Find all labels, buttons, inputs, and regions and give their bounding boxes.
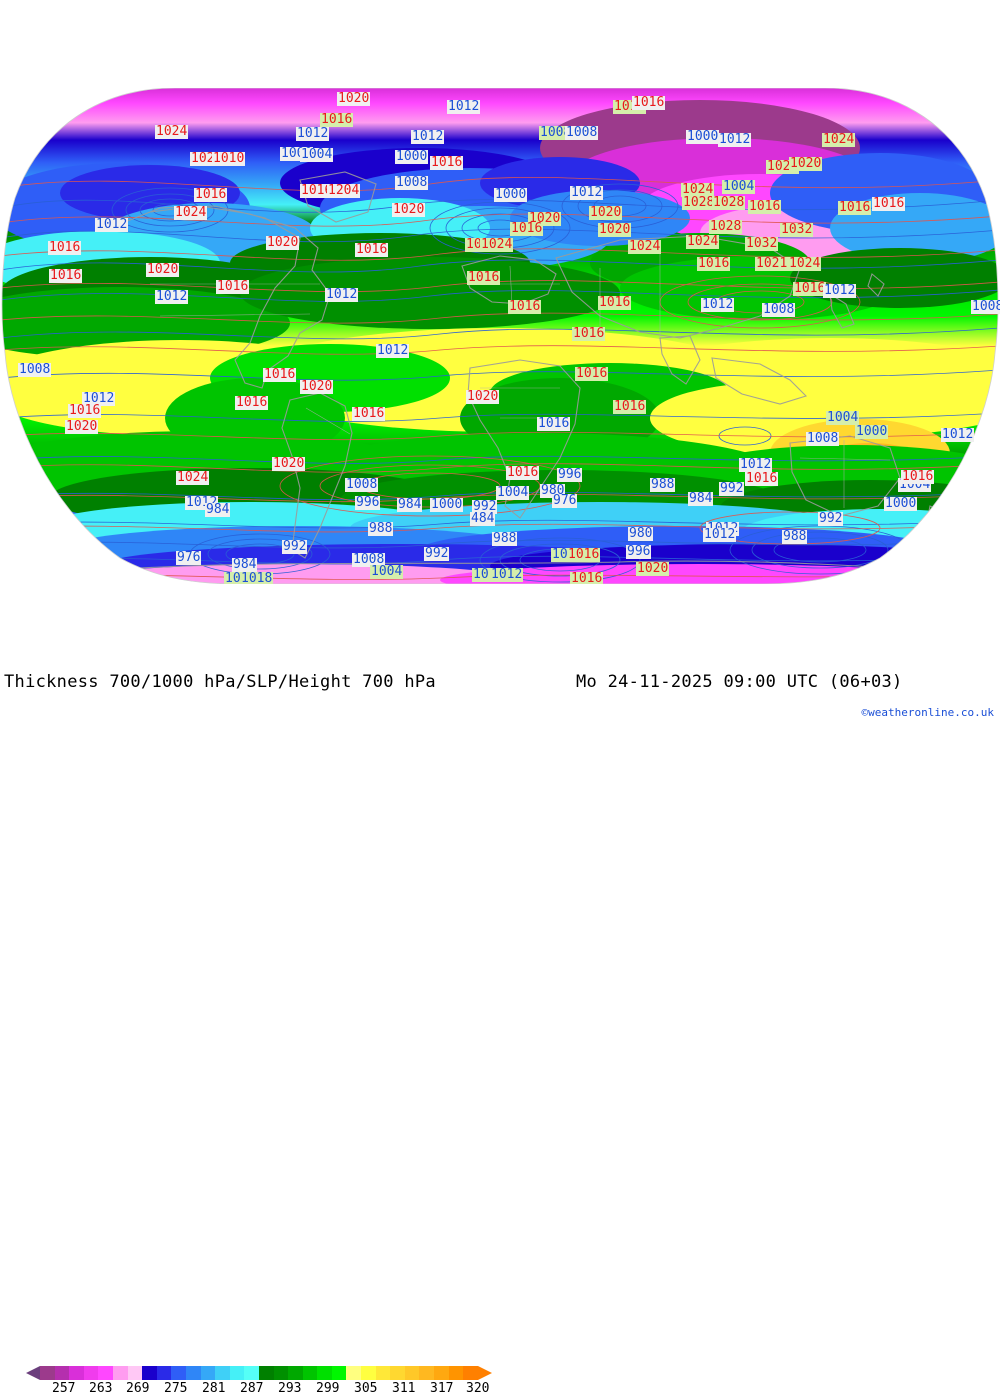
colorbar-swatch [40, 1366, 55, 1380]
contour-value-label: 1016 [598, 296, 631, 310]
world-thickness-field [0, 88, 1000, 584]
contour-value-label: 988 [492, 532, 517, 546]
colorbar-tick: 281 [202, 1381, 225, 1396]
colorbar-swatch [449, 1366, 464, 1380]
colorbar-swatch [376, 1366, 391, 1380]
contour-value-label: 1016 [748, 200, 781, 214]
contour-value-label: 1024 [628, 240, 661, 254]
colorbar-tick: 257 [52, 1381, 75, 1396]
colorbar-swatch [288, 1366, 303, 1380]
colorbar-swatch [186, 1366, 201, 1380]
contour-value-label: 1016 [68, 404, 101, 418]
contour-value-label: 1016 [506, 466, 539, 480]
contour-value-label: 976 [552, 494, 577, 508]
footer: Thickness 700/1000 hPa/SLP/Height 700 hP… [0, 660, 1000, 733]
contour-value-label: 1000 [395, 150, 428, 164]
colorbar-tick: 299 [316, 1381, 339, 1396]
contour-value-label: 1016 [355, 243, 388, 257]
contour-value-label: 1018 [240, 572, 273, 584]
contour-value-label: 988 [368, 522, 393, 536]
colorbar-swatch [463, 1366, 478, 1380]
contour-value-label: 1008 [345, 478, 378, 492]
contour-value-label: 1012 [703, 528, 736, 542]
contour-value-label: 1028 [709, 220, 742, 234]
contour-value-label: 1012 [447, 100, 480, 114]
colorbar-tick: 317 [430, 1381, 453, 1396]
contour-value-label: 1008 [806, 432, 839, 446]
colorbar-swatch [84, 1366, 99, 1380]
colorbar-swatch [230, 1366, 245, 1380]
colorbar-under-arrow [26, 1366, 40, 1380]
contour-value-label: 1020 [466, 390, 499, 404]
contour-value-label: 1012 [739, 458, 772, 472]
colorbar-swatch [317, 1366, 332, 1380]
colorbar-tick: 269 [126, 1381, 149, 1396]
contour-value-label: 1008 [18, 363, 51, 377]
colorbar-swatch [332, 1366, 347, 1380]
contour-value-label: 1020 [337, 92, 370, 106]
contour-value-label: 1028 [682, 196, 715, 210]
contour-value-label: 996 [355, 496, 380, 510]
colorbar-swatch [113, 1366, 128, 1380]
contour-value-label: 1020 [65, 420, 98, 434]
contour-value-label: 1016 [263, 368, 296, 382]
contour-value-label: 1016 [572, 327, 605, 341]
globe-container[interactable]: 1020101210161016102410161012101210081008… [0, 88, 1000, 584]
colorbar-swatch [171, 1366, 186, 1380]
contour-value-label: 1016 [49, 269, 82, 283]
colorbar-swatch [244, 1366, 259, 1380]
contour-value-label: 1016 [838, 201, 871, 215]
colorbar-swatch [419, 1366, 434, 1380]
chart-title: Thickness 700/1000 hPa/SLP/Height 700 hP… [4, 672, 436, 692]
contour-value-label: 1012 [155, 290, 188, 304]
contour-value-label: 1010 [212, 152, 245, 166]
contour-value-label: 1012 [325, 288, 358, 302]
colorbar-swatch [157, 1366, 172, 1380]
contour-value-label: 1012 [490, 568, 523, 582]
contour-value-label: 984 [232, 558, 257, 572]
contour-value-label: 1020 [589, 206, 622, 220]
contour-value-label: 992 [818, 512, 843, 526]
colorbar-tick: 311 [392, 1381, 415, 1396]
colorbar-tick: 305 [354, 1381, 377, 1396]
colorbar-over-arrow [478, 1366, 492, 1380]
colorbar-swatch [55, 1366, 70, 1380]
contour-value-label: 1008 [395, 176, 428, 190]
contour-value-label: 1024 [686, 235, 719, 249]
contour-value-label: 984 [688, 492, 713, 506]
colorbar-swatch [128, 1366, 143, 1380]
contour-value-label: 1016 [570, 572, 603, 584]
contour-value-label: 1021 [755, 257, 788, 271]
contour-value-label: 1012 [95, 218, 128, 232]
contour-value-label: 1016 [48, 241, 81, 255]
contour-value-label: 1020 [146, 263, 179, 277]
contour-value-label: 1204 [327, 184, 360, 198]
contour-value-label: 1016 [508, 300, 541, 314]
colorbar-tick: 287 [240, 1381, 263, 1396]
contour-value-label: 1012 [376, 344, 409, 358]
colorbar-swatch [390, 1366, 405, 1380]
colorbar-tick-labels: 257263269275281287293299305311317320 [26, 1381, 506, 1395]
colorbar-swatch [98, 1366, 113, 1380]
contour-value-label: 1016 [901, 470, 934, 484]
colorbar-swatches [40, 1366, 478, 1380]
contour-value-label: 984 [205, 503, 230, 517]
contour-value-label: 1000 [494, 188, 527, 202]
colorbar-swatch [259, 1366, 274, 1380]
contour-value-label: 1004 [496, 486, 529, 500]
contour-value-label: 1000 [430, 498, 463, 512]
contour-value-label: 1008 [971, 300, 1000, 314]
colorbar-tick: 263 [89, 1381, 112, 1396]
contour-value-label: 1016 [216, 280, 249, 294]
contour-value-label: 976 [176, 551, 201, 565]
contour-value-label: 1012 [570, 186, 603, 200]
contour-value-label: 1004 [370, 565, 403, 579]
contour-value-label: 1016 [510, 222, 543, 236]
contour-value-label: 1012 [411, 130, 444, 144]
contour-value-label: 1004 [826, 411, 859, 425]
contour-value-label: 996 [557, 468, 582, 482]
colorbar-swatch [434, 1366, 449, 1380]
contour-value-label: 996 [626, 545, 651, 559]
contour-value-label: 1016 [793, 282, 826, 296]
contour-value-label: 1016 [467, 271, 500, 285]
contour-value-label: 1016 [352, 407, 385, 421]
colorbar-swatch [142, 1366, 157, 1380]
contour-value-label: 1020 [789, 157, 822, 171]
contour-value-label: 1028 [712, 196, 745, 210]
contour-value-label: 1024 [155, 125, 188, 139]
contour-value-label: 1012 [701, 298, 734, 312]
contour-value-label: 1016 [575, 367, 608, 381]
contour-value-label: 1004 [722, 180, 755, 194]
weather-map-page: 1020101210161016102410161012101210081008… [0, 0, 1000, 733]
contour-value-label: 1024 [176, 471, 209, 485]
contour-value-label: 1008 [565, 126, 598, 140]
colorbar-swatch [274, 1366, 289, 1380]
colorbar-swatch [405, 1366, 420, 1380]
contour-value-label: 1024 [480, 238, 513, 252]
contour-value-label: 1016 [537, 417, 570, 431]
contour-value-label: 988 [782, 530, 807, 544]
contour-value-label: 1000 [855, 425, 888, 439]
contour-value-label: 1012 [296, 127, 329, 141]
contour-value-label: 1008 [762, 303, 795, 317]
contour-value-label: 1016 [194, 188, 227, 202]
contour-value-label: 1016 [235, 396, 268, 410]
contour-value-label: 1020 [598, 223, 631, 237]
contour-value-label: 980 [628, 527, 653, 541]
contour-value-label: 992 [424, 547, 449, 561]
contour-value-label: 1000 [686, 130, 719, 144]
colorbar-swatch [215, 1366, 230, 1380]
contour-value-label: 1032 [745, 237, 778, 251]
contour-value-label: 1016 [872, 197, 905, 211]
contour-value-label: 1020 [300, 380, 333, 394]
contour-value-label: 992 [719, 482, 744, 496]
contour-value-label: 988 [650, 478, 675, 492]
contour-value-label: 1016 [430, 156, 463, 170]
contour-value-label: 1000 [884, 497, 917, 511]
contour-value-label: 1024 [174, 206, 207, 220]
contour-value-label: 1016 [567, 548, 600, 562]
colorbar-tick: 320 [466, 1381, 489, 1396]
contour-value-label: 984 [397, 498, 422, 512]
contour-value-label: 1012 [941, 428, 974, 442]
contour-value-label: 992 [282, 540, 307, 554]
contour-value-label: 1016 [320, 113, 353, 127]
contour-value-label: 1032 [780, 223, 813, 237]
contour-value-label: 1024 [822, 133, 855, 147]
contour-value-label: 1020 [272, 457, 305, 471]
colorbar-swatch [201, 1366, 216, 1380]
contour-value-label: 1016 [697, 257, 730, 271]
colorbar-swatch [361, 1366, 376, 1380]
contour-value-label: 1020 [392, 203, 425, 217]
colorbar: 257263269275281287293299305311317320 [26, 1366, 506, 1393]
contour-value-label: 1020 [636, 562, 669, 576]
colorbar-swatch [346, 1366, 361, 1380]
contour-value-label: 1024 [788, 257, 821, 271]
colorbar-swatch [303, 1366, 318, 1380]
contour-value-label: 1016 [745, 472, 778, 486]
contour-value-label: 484 [470, 512, 495, 526]
colorbar-swatch [69, 1366, 84, 1380]
contour-value-label: 1012 [718, 133, 751, 147]
contour-value-label: 1004 [300, 148, 333, 162]
contour-value-label: 1016 [632, 96, 665, 110]
colorbar-tick: 275 [164, 1381, 187, 1396]
contour-value-label: 1020 [266, 236, 299, 250]
contour-value-label: 1016 [613, 400, 646, 414]
contour-value-label: 1012 [823, 284, 856, 298]
valid-datetime: Mo 24-11-2025 09:00 UTC (06+03) [576, 672, 903, 692]
map-area[interactable]: 1020101210161016102410161012101210081008… [0, 0, 1000, 660]
copyright-watermark: ©weatheronline.co.uk [862, 706, 994, 719]
colorbar-tick: 293 [278, 1381, 301, 1396]
